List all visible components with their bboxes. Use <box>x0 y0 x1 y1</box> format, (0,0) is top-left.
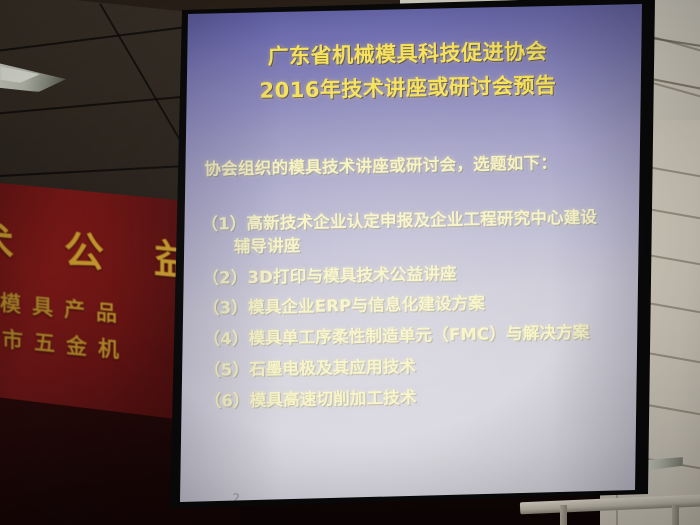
list-item-text: 石墨电极及其应用技术 <box>249 357 416 379</box>
slide-content: 广东省机械模具科技促进协会 2016年技术讲座或研讨会预告 协会组织的模具技术讲… <box>180 4 642 504</box>
slide-title-line-2: 2016年技术讲座或研讨会预告 <box>180 70 639 108</box>
list-item: （1）高新技术企业认定申报及企业工程研究中心建设 辅导讲座 <box>201 206 642 260</box>
list-item-continuation: 辅导讲座 <box>202 229 642 260</box>
photo-scene: 术 公 益 家模具产品 莞市五金机 广东省机械模具科技促进协会 2016年技术讲… <box>0 0 700 525</box>
list-item-text: 模具高速切削加工技术 <box>250 388 417 410</box>
list-item-number: （5） <box>204 360 249 380</box>
list-item-number: （3） <box>203 298 248 318</box>
slide-intro-text: 协会组织的模具技术讲座或研讨会，选题如下： <box>204 149 557 179</box>
list-item-text: 模具企业ERP与信息化建设方案 <box>248 294 485 317</box>
list-item: （6）模具高速切削加工技术 <box>204 382 642 413</box>
projection-screen-surface[interactable]: 广东省机械模具科技促进协会 2016年技术讲座或研讨会预告 协会组织的模具技术讲… <box>180 4 642 504</box>
list-item-number: （6） <box>204 391 249 411</box>
bench-leg <box>672 505 679 525</box>
list-item-text: 高新技术企业认定申报及企业工程研究中心建设 <box>246 208 597 233</box>
list-item-number: （1） <box>201 214 246 234</box>
list-item-text: 3D打印与模具技术公益讲座 <box>247 264 457 287</box>
list-item: （5）石墨电极及其应用技术 <box>204 352 642 383</box>
list-item: （2）3D打印与模具技术公益讲座 <box>202 259 642 290</box>
list-item-text: 模具单工序柔性制造单元（FMC）与解决方案 <box>248 323 589 348</box>
bench-leg <box>560 505 567 525</box>
list-item-number: （4） <box>203 329 248 349</box>
slide-title-line-1: 广东省机械模具科技促进协会 <box>180 36 639 74</box>
list-item-number: （2） <box>202 268 247 288</box>
list-item: （3）模具企业ERP与信息化建设方案 <box>203 290 642 321</box>
slide-item-list: （1）高新技术企业认定申报及企业工程研究中心建设 辅导讲座 （2）3D打印与模具… <box>201 206 642 421</box>
list-item: （4）模具单工序柔性制造单元（FMC）与解决方案 <box>203 321 642 352</box>
